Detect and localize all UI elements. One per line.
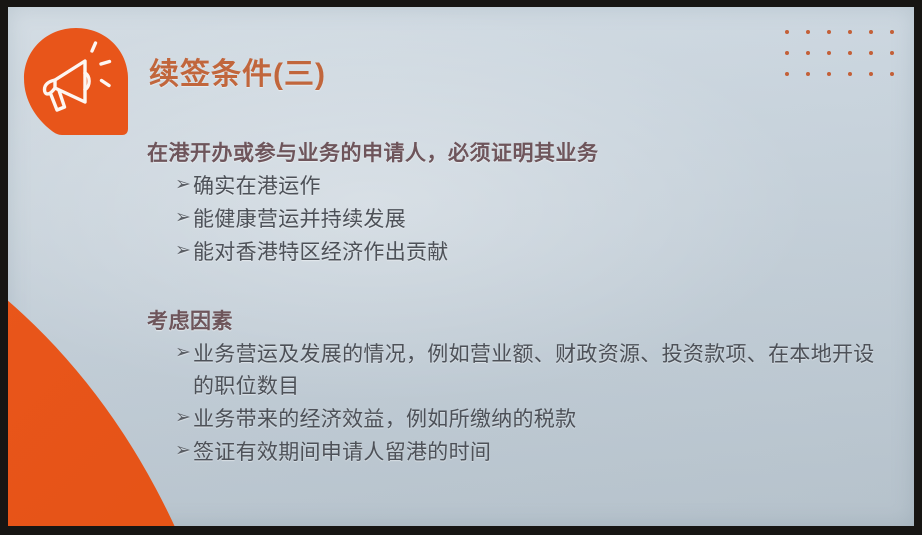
dot-icon — [785, 30, 789, 34]
dot-cell — [881, 42, 902, 63]
page-title: 续签条件(三) — [149, 49, 326, 93]
dot-cell — [818, 21, 839, 42]
content-section: 考虑因素 ➢ 业务营运及发展的情况，例如营业额、财政资源、投资款项、在本地开设的… — [147, 308, 887, 469]
list-item-label: 确实在港运作 — [193, 171, 887, 203]
dot-cell — [839, 63, 860, 84]
list-item: ➢ 能对香港特区经济作出贡献 — [175, 237, 887, 269]
megaphone-badge — [22, 26, 130, 138]
projected-slide-frame: 续签条件(三) 在港开办或参与业务的申请人，必须 — [0, 0, 922, 535]
arrow-bullet-icon: ➢ — [175, 437, 193, 466]
list-item: ➢ 确实在港运作 — [175, 171, 887, 203]
list-item-label: 业务营运及发展的情况，例如营业额、财政资源、投资款项、在本地开设的职位数目 — [193, 339, 887, 403]
dot-icon — [890, 30, 894, 34]
arrow-bullet-icon: ➢ — [175, 204, 193, 233]
list-item: ➢ 签证有效期间申请人留港的时间 — [175, 437, 887, 469]
list-item: ➢ 能健康营运并持续发展 — [175, 204, 887, 236]
dot-cell — [860, 63, 881, 84]
dot-icon — [827, 72, 831, 76]
dot-icon — [890, 72, 894, 76]
arrow-bullet-icon: ➢ — [175, 171, 193, 200]
list-item-label: 业务带来的经济效益，例如所缴纳的税款 — [193, 404, 887, 436]
bullet-list: ➢ 确实在港运作 ➢ 能健康营运并持续发展 ➢ 能对香港特区经济作出贡献 — [147, 171, 887, 269]
dot-cell — [776, 21, 797, 42]
bullet-list: ➢ 业务营运及发展的情况，例如营业额、财政资源、投资款项、在本地开设的职位数目 … — [147, 339, 887, 469]
dot-cell — [818, 63, 839, 84]
dot-icon — [806, 51, 810, 55]
dot-cell — [881, 21, 902, 42]
arrow-bullet-icon: ➢ — [175, 404, 193, 433]
section-heading: 在港开办或参与业务的申请人，必须证明其业务 — [147, 140, 887, 168]
dot-cell — [776, 63, 797, 84]
section-heading: 考虑因素 — [147, 308, 887, 336]
map-pin-shape — [24, 28, 128, 135]
dot-cell — [818, 42, 839, 63]
dot-cell — [860, 42, 881, 63]
dot-grid-decoration — [776, 21, 902, 84]
dot-cell — [839, 42, 860, 63]
dot-icon — [785, 72, 789, 76]
slide-surface: 续签条件(三) 在港开办或参与业务的申请人，必须 — [8, 7, 914, 526]
arrow-bullet-icon: ➢ — [175, 237, 193, 266]
dot-icon — [785, 51, 789, 55]
dot-icon — [806, 72, 810, 76]
dot-icon — [827, 51, 831, 55]
dot-cell — [839, 21, 860, 42]
dot-cell — [860, 21, 881, 42]
dot-icon — [869, 72, 873, 76]
dot-icon — [869, 30, 873, 34]
dot-icon — [848, 51, 852, 55]
dot-icon — [890, 51, 894, 55]
dot-icon — [827, 30, 831, 34]
slide-body: 在港开办或参与业务的申请人，必须证明其业务 ➢ 确实在港运作 ➢ 能健康营运并持… — [147, 140, 887, 470]
dot-cell — [881, 63, 902, 84]
dot-icon — [848, 30, 852, 34]
dot-icon — [869, 51, 873, 55]
list-item-label: 能对香港特区经济作出贡献 — [193, 237, 887, 269]
list-item: ➢ 业务营运及发展的情况，例如营业额、财政资源、投资款项、在本地开设的职位数目 — [175, 339, 887, 403]
list-item-label: 签证有效期间申请人留港的时间 — [193, 437, 887, 469]
section-spacer — [147, 270, 887, 308]
dot-cell — [797, 21, 818, 42]
content-section: 在港开办或参与业务的申请人，必须证明其业务 ➢ 确实在港运作 ➢ 能健康营运并持… — [147, 140, 887, 269]
dot-icon — [848, 72, 852, 76]
dot-icon — [806, 30, 810, 34]
list-item: ➢ 业务带来的经济效益，例如所缴纳的税款 — [175, 404, 887, 436]
dot-cell — [776, 42, 797, 63]
arrow-bullet-icon: ➢ — [175, 339, 193, 368]
dot-cell — [797, 42, 818, 63]
dot-cell — [797, 63, 818, 84]
list-item-label: 能健康营运并持续发展 — [193, 204, 887, 236]
